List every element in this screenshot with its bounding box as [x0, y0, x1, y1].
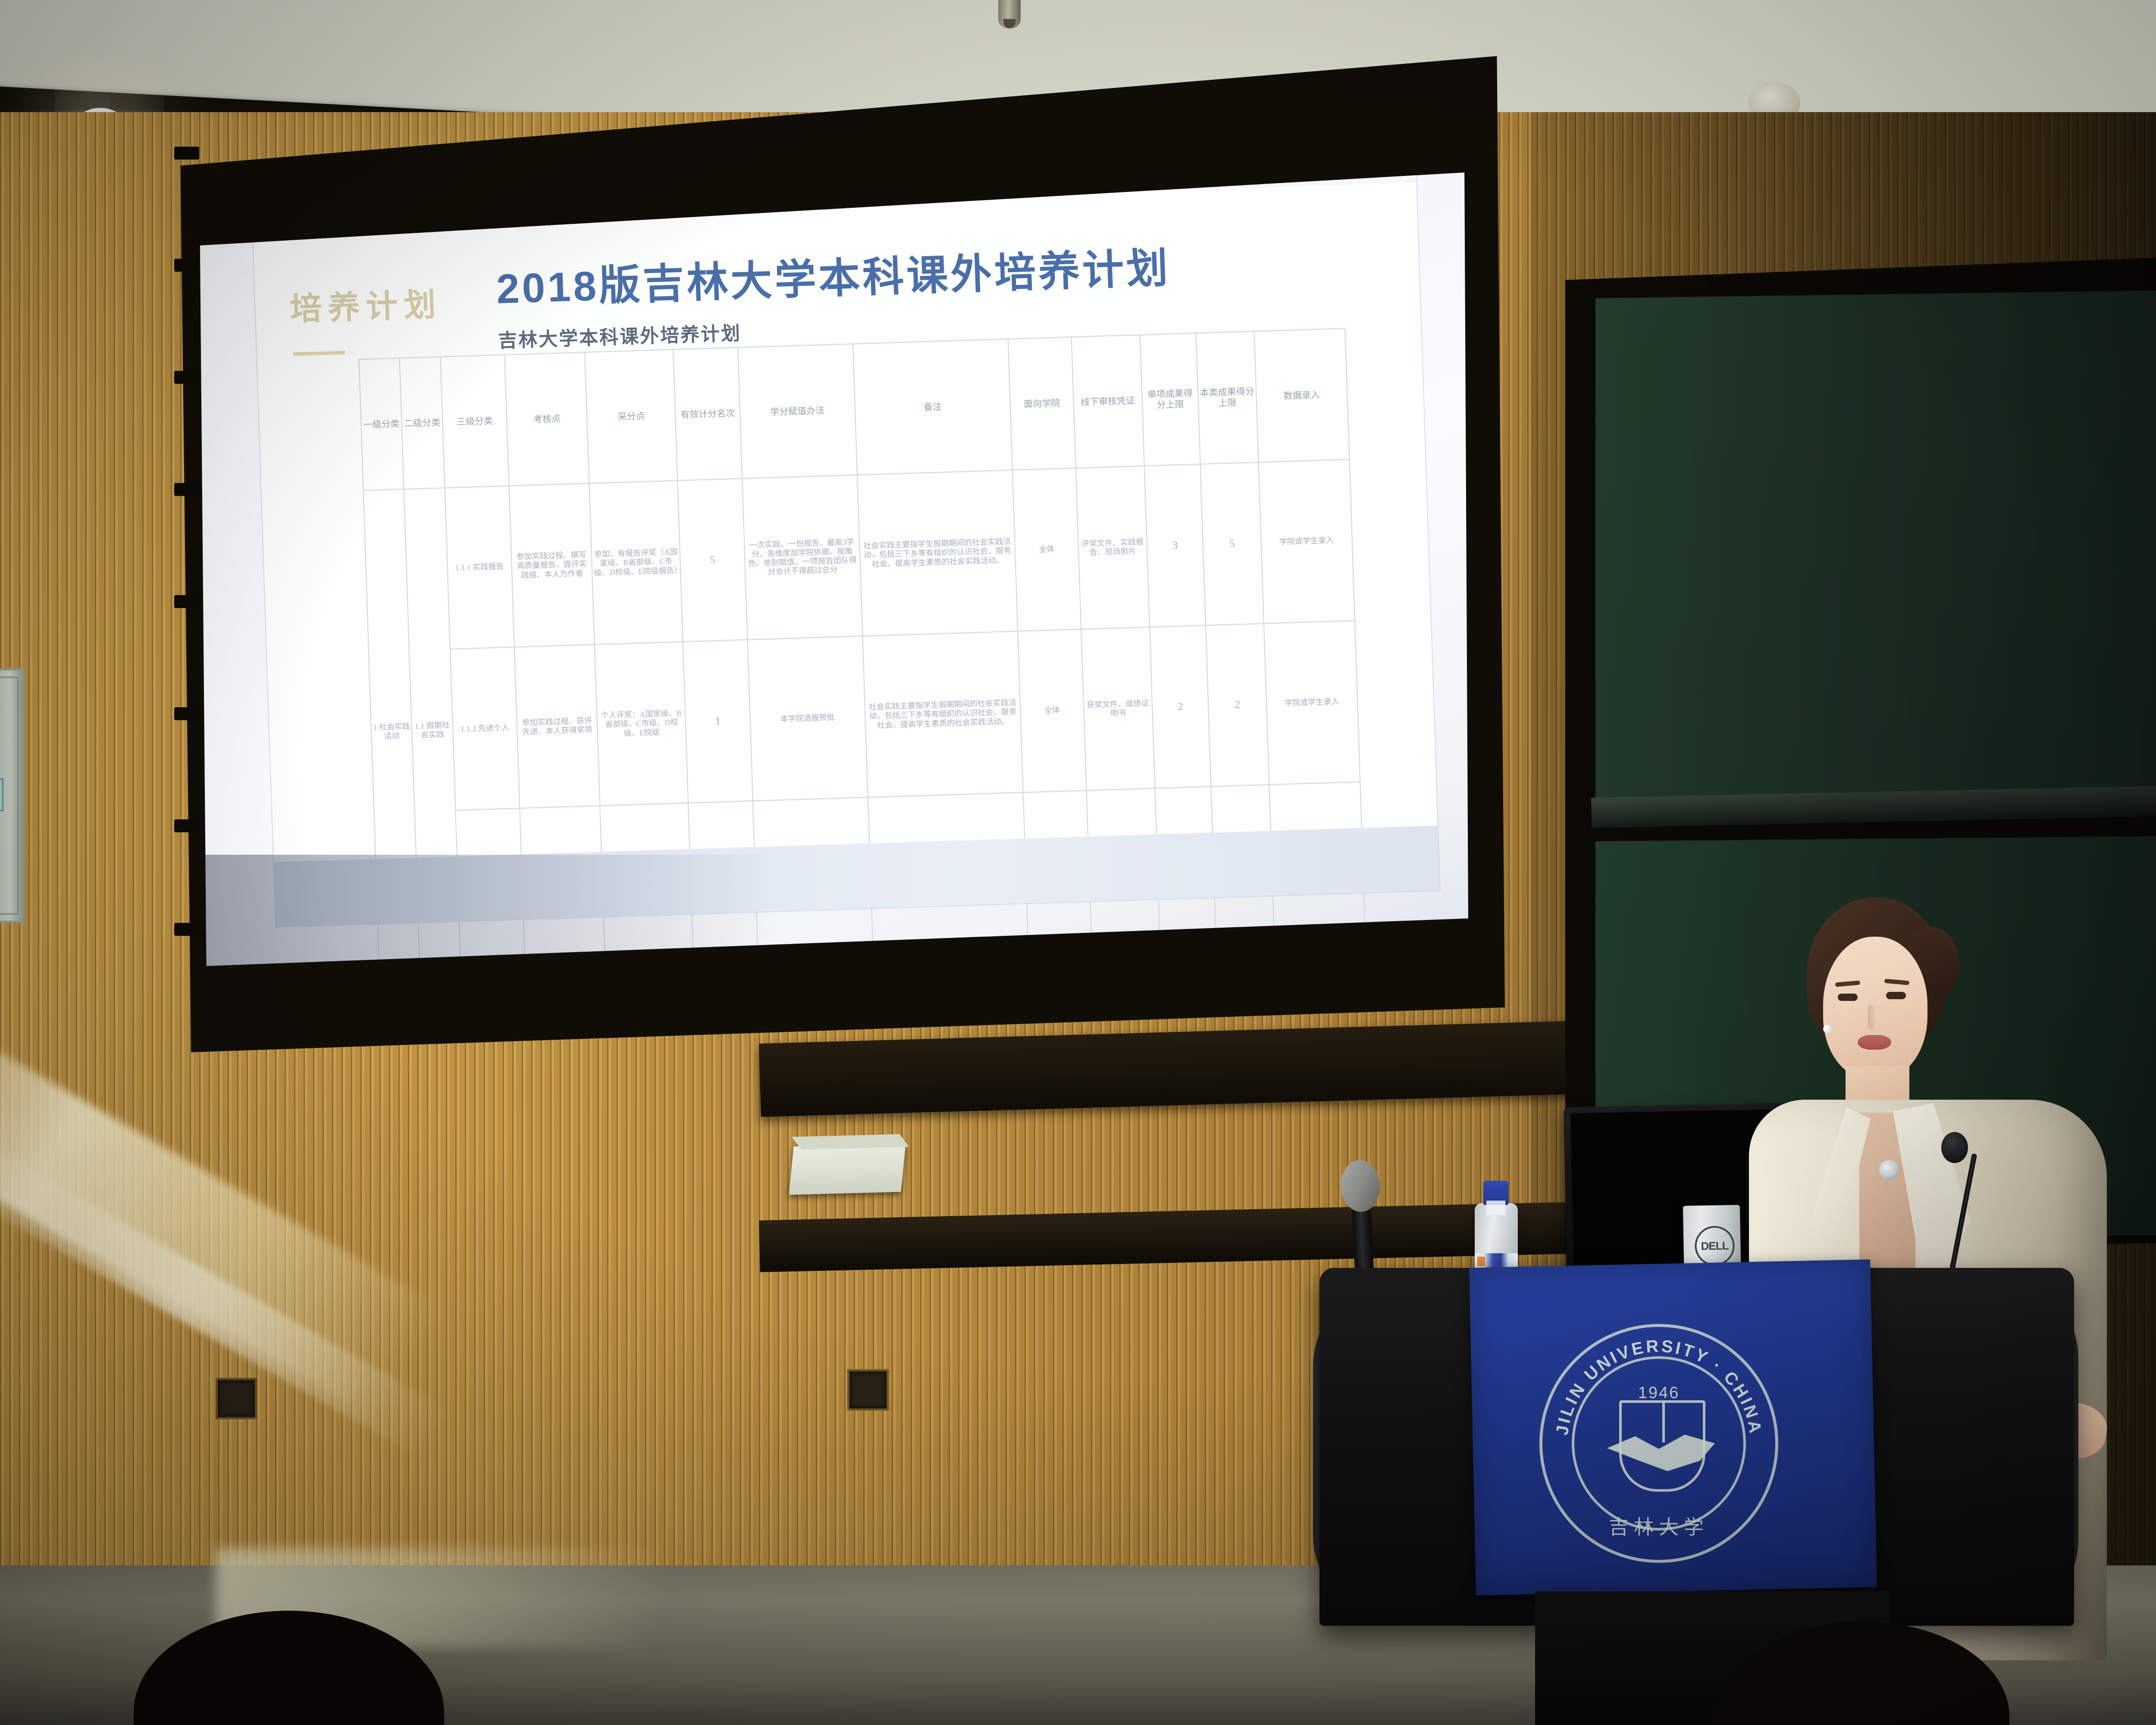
slide-kicker-rule — [293, 351, 345, 356]
cell-score-point: 参加、有报告评奖（A国家级、B省部级、C市级、D校级、E院级报告） — [589, 480, 683, 644]
cell-assess: 参加实践过程、撰写高质量报告、提评实践组、本人为作者 — [509, 483, 595, 647]
cell-college: 全体 — [1012, 468, 1081, 631]
col-header: 采分点 — [585, 349, 678, 483]
cell-data-entry: 学院或学生录入 — [1258, 459, 1355, 623]
cell-college: 全体 — [1018, 629, 1086, 792]
cell-rank: 1 — [683, 640, 752, 803]
col-header: 线下审核凭证 — [1072, 335, 1144, 468]
col-header: 三级分类 — [440, 355, 509, 488]
seal-outer-text: JILIN UNIVERSITY · CHINA — [1553, 1336, 1765, 1436]
cell-credit-rule: 本学院选报照批 — [747, 636, 868, 801]
col-header: 本类成果得分上限 — [1196, 331, 1258, 464]
col-header: 数据录入 — [1254, 329, 1349, 462]
cell-assess: 参加实践过程、获评先进、本人获得奖项 — [514, 645, 600, 809]
cell-rank: 5 — [678, 479, 747, 642]
electrical-panel — [0, 668, 25, 923]
floor-socket — [216, 1378, 257, 1419]
table-row: 1.1.2 先进个人 参加实践过程、获评先进、本人获得奖项 个人评奖：A国家级、… — [369, 621, 1360, 813]
slide-table-title: 吉林大学本科课外培养计划 — [498, 318, 742, 353]
cell-single-cap: 3 — [1144, 464, 1206, 627]
necklace-pendant-icon — [1879, 1160, 1899, 1180]
cell-level3: 1.1.1 实践报告 — [445, 486, 514, 649]
sprinkler-head-icon — [998, 0, 1021, 28]
lecture-hall-photo: 培养计划 2018版吉林大学本科课外培养计划 吉林大学本科课外培养计划 一级分类… — [0, 0, 2156, 1725]
col-header: 学分赋值办法 — [738, 344, 857, 478]
col-header: 二级分类 — [400, 357, 445, 489]
cell-remark: 社会实践主要指学生假期期间的社会实践活动，包括三下乡等有组织的认识社会、服务社会… — [862, 631, 1023, 797]
col-header: 单项成果得分上限 — [1140, 333, 1200, 466]
panel-handle-icon — [0, 778, 3, 811]
slide-kicker-label: 培养计划 — [289, 279, 442, 329]
svg-text:JILIN UNIVERSITY · CHINA: JILIN UNIVERSITY · CHINA — [1553, 1336, 1765, 1436]
col-header: 一级分类 — [359, 358, 404, 490]
floor-socket — [847, 1369, 889, 1411]
cell-offline-proof: 评奖文件、实践报告、现场照片 — [1076, 466, 1150, 629]
presenter-eye-right — [1886, 992, 1906, 999]
screen-edge-tabs — [174, 129, 200, 949]
jilin-university-seal: 1946 吉林大学 JILIN UNIVERSITY · CHINA — [1539, 1324, 1778, 1563]
bottle-neck — [1486, 1201, 1505, 1215]
col-header: 有效计分名次 — [674, 348, 742, 481]
cell-remark: 社会实践主要指学生假期期间的社会实践活动，包括三下乡等有组织的认识社会、服务社会… — [857, 470, 1018, 636]
cell-offline-proof: 获奖文件、成绩证明书 — [1081, 627, 1155, 790]
slide-title: 2018版吉林大学本科课外培养计划 — [495, 234, 1171, 315]
cell-data-entry: 学院或学生录入 — [1264, 621, 1360, 784]
blackboard-upper-panel — [1595, 285, 2156, 806]
eraser-tray — [789, 1143, 906, 1195]
col-header: 面向学院 — [1008, 337, 1076, 470]
presenter-eye-left — [1838, 994, 1858, 1001]
projection-screen-surface: 培养计划 2018版吉林大学本科课外培养计划 吉林大学本科课外培养计划 一级分类… — [196, 172, 1468, 966]
presenter-mouth — [1858, 1035, 1891, 1050]
table-row: 1 社会实践活动 1.1 假期社会实践 1.1.1 实践报告 参加实践过程、撰写… — [364, 459, 1355, 652]
cell-class-cap: 2 — [1206, 624, 1269, 787]
earring-icon — [1823, 1025, 1832, 1033]
cell-score-point: 个人评奖：A国家级、B省部级、C市级、D校级、E院级 — [595, 642, 688, 806]
presenter-nose — [1868, 1005, 1875, 1030]
col-header: 备注 — [853, 339, 1012, 475]
cell-class-cap: 5 — [1200, 462, 1264, 625]
presenter-face — [1823, 937, 1927, 1079]
lapel-microphone-head-icon — [1941, 1132, 1968, 1163]
col-header: 考核点 — [505, 352, 589, 486]
cell-level3: 1.1.2 先进个人 — [450, 647, 520, 810]
cell-single-cap: 2 — [1150, 625, 1211, 788]
presentation-slide: 培养计划 2018版吉林大学本科课外培养计划 吉林大学本科课外培养计划 一级分类… — [252, 175, 1440, 927]
seal-outer-text-icon: JILIN UNIVERSITY · CHINA — [1542, 1327, 1775, 1560]
cell-credit-rule: 一次实践、一份报告、最高3学分，各维度加学院依据、按角色、依别赋值、一项报告团队… — [742, 475, 862, 640]
